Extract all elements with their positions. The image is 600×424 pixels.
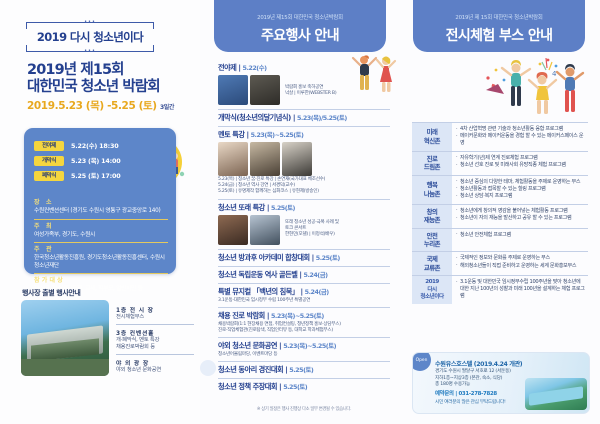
event-item-policy-debate[interactable]: 청소년 정책 주장대회 | 5.25(토): [218, 379, 390, 395]
zone-item: 청소년이 자의 재능을 발산하고 공유 할 수 있는 프로그램: [456, 215, 585, 222]
middle-header-title: 주요행사 안내: [214, 25, 386, 45]
schedule-label: 전야제: [34, 141, 64, 151]
venue-ground-shape: [21, 359, 109, 376]
schedule-row: 개막식 5.23 (목) 14:00: [34, 153, 166, 168]
schedule-label: 개막식: [34, 156, 64, 166]
schedule-value: 5.23 (목) 14:00: [71, 156, 120, 165]
zone-description: 청소년 안전체험 프로그램: [452, 229, 588, 252]
event-item-choir-contest[interactable]: 청소년 방과후 아카데미 합창대회 | 5.25(토): [218, 250, 390, 267]
event-date: 5.24(금): [305, 288, 329, 296]
zone-item: 청소년 중심의 다양한 테마, 체험활동을 주제로 운영하는 부스: [456, 179, 585, 186]
event-media-row: [218, 142, 390, 176]
zone-item: 청소년 안전체험 프로그램: [456, 232, 585, 239]
meta-value: 한국청소년활동진흥원, 경기도청소년활동진흥센터, 수원시청소년재단: [34, 255, 168, 270]
zone-item: 메이커문화와 메이커운동을 경험 할 수 있는 메이커스페이스 운영: [456, 133, 585, 147]
speaker-photo: [218, 215, 248, 245]
venue-photo: [21, 300, 109, 376]
hostel-title: 수원유스호스텔 (2019.4.24 개관): [435, 359, 522, 368]
performer-photo: [218, 75, 248, 105]
zone-row-future-innovation[interactable]: 미래 혁신존 4차 산업혁명 관련 기술과 청소년활동 융합 프로그램 메이커문…: [412, 123, 588, 152]
zone-item: 청소년활동과 접목할 수 있는 힐링 프로그램: [456, 186, 585, 193]
event-item-opening-ceremony[interactable]: 개막식(청소년의달기념식) | 5.23(목)/5.25(토): [218, 110, 390, 127]
meta-item-organizer: 주 관 한국청소년활동진흥원, 경기도청소년활동진흥센터, 수원시청소년재단: [34, 242, 168, 273]
zone-item: 청소년 상담·복지 프로그램: [456, 193, 585, 200]
meta-label: 참가대상: [34, 277, 168, 285]
schedule-row: 전야제 5.22(수) 18:30: [34, 138, 166, 153]
event-date: 5.23(목)~5.25(토): [271, 312, 324, 320]
event-meta-list: 장 소 수원컨벤션센터 (경기도 수원시 영통구 광교중앙로 140) 주 최 …: [34, 196, 168, 297]
zone-description: 청소년 중심의 다양한 테마, 체험활동을 주제로 운영하는 부스 청소년활동과…: [452, 176, 588, 204]
event-title-row: 전야제 | 5.22(수): [218, 63, 390, 73]
event-title-row: 청소년 방과후 아카데미 합창대회 | 5.25(토): [218, 253, 390, 263]
hostel-info-lines: 경기도 수원시 팔달구 서호로 12 (서둔동) 지하1층~지상3층 (본관, …: [435, 369, 539, 389]
zone-item-list: 청소년 안전체험 프로그램: [456, 232, 585, 239]
event-date-range: 2019.5.23 (목) -5.25 (토): [27, 100, 157, 112]
event-date: 5.25(토): [271, 204, 295, 212]
schedule-value: 5.25 (토) 17:00: [71, 171, 120, 180]
zone-description: 국제적인 정보와 문화를 주제로 운영하는 부스 해외청소년들이 직접 준비하고…: [452, 252, 588, 275]
title-line-1: 2019년 제15회: [27, 62, 197, 79]
zone-description: 자유학기(년)제 연계 진로체험 프로그램 청소년 선호 진로 및 미래사회 유…: [452, 152, 588, 175]
zone-row-international-exchange[interactable]: 국제 교류존 국제적인 정보와 문화를 주제로 운영하는 부스 해외청소년들이 …: [412, 252, 588, 276]
event-date: 5.23(목)~5.25(토): [283, 342, 336, 350]
venue-floor-desc: 야외 청소년 문화공연: [116, 367, 194, 374]
right-header-kicker: 2019년 제 15회 대한민국 청소년박람회: [413, 13, 585, 21]
right-header-title: 전시체험 부스 안내: [413, 25, 585, 45]
meta-item-venue: 장 소 수원컨벤션센터 (경기도 수원시 영통구 광교중앙로 140): [34, 196, 168, 219]
event-date: 5.23(목)~5.25(토): [251, 131, 304, 139]
zone-row-creative-talent[interactable]: 창의 재능존 청소년에게 창의적 영감을 불어넣는 체험활동 프로그램 청소년이…: [412, 205, 588, 229]
event-item-mentor-lecture[interactable]: 멘토 특강 | 5.23(목)~5.25(토) 5.23(목) | 청소년 꿈·…: [218, 127, 390, 200]
event-name: 청소년 또래 특강: [218, 203, 265, 212]
zone-item-list: 4차 산업혁명 관련 기술과 청소년활동 융합 프로그램 메이커문화와 메이커운…: [456, 126, 585, 147]
event-name: 개막식(청소년의달기념식): [218, 113, 291, 122]
middle-header-card: 2019년 제15회 대한민국 청소년박람회 주요행사 안내: [214, 0, 386, 52]
zone-name: 미래 혁신존: [412, 123, 452, 151]
brand-tag: ••• 2019 다시 청소년이다 •••: [26, 22, 154, 52]
event-subtext: 청소년어울림마당, 이벤트마당 등: [218, 352, 390, 358]
event-media-row: 또래 청소년 성공·극복 사례 및 토크 콘서트 한현민(모델) | 이정석(배…: [218, 215, 390, 245]
schedule-label: 폐막식: [34, 171, 64, 181]
booth-zone-table: 미래 혁신존 4차 산업혁명 관련 기술과 청소년활동 융합 프로그램 메이커문…: [412, 122, 588, 304]
event-item-peer-lecture[interactable]: 청소년 또래 특강 | 5.25(토) 또래 청소년 성공·극복 사례 및 토크…: [218, 200, 390, 250]
meta-label: 주 최: [34, 223, 168, 231]
event-name: 야외 청소년 문화공연: [218, 341, 277, 350]
title-line-2: 대한민국 청소년 박람회: [27, 79, 197, 96]
event-date: 5.24(금): [304, 271, 328, 279]
event-title-row: 개막식(청소년의달기념식) | 5.23(목)/5.25(토): [218, 113, 390, 123]
event-name: 청소년 정책 주장대회: [218, 382, 277, 391]
meta-item-host: 주 최 여성가족부, 경기도, 수원시: [34, 219, 168, 243]
zone-row-safety[interactable]: 안전 누리존 청소년 안전체험 프로그램: [412, 229, 588, 253]
middle-header-kicker: 2019년 제15회 대한민국 청소년박람회: [214, 13, 386, 21]
venue-floor-title: 야 외 광 장: [116, 358, 194, 367]
venue-floor-title: 3층 컨벤션홀: [116, 328, 194, 337]
zone-row-happiness-sharing[interactable]: 행복 나눔존 청소년 중심의 다양한 테마, 체험활동을 주제로 운영하는 부스…: [412, 176, 588, 205]
event-title-row: 채용 진로 박람회 | 5.23(목)~5.25(토): [218, 311, 390, 321]
program-event-list: 전야제 | 5.22(수) 박람회 홍보 축하공연 넉살 | 이루한(WEBST…: [218, 60, 390, 395]
event-name: 멘토 특강: [218, 130, 244, 139]
event-title-row: 멘토 특강 | 5.23(목)~5.25(토): [218, 130, 390, 140]
meta-label: 주 관: [34, 246, 168, 254]
event-title-row: 특별 뮤지컬 「백년의 침묵」 | 5.24(금): [218, 287, 390, 297]
meta-value: 수원컨벤션센터 (경기도 수원시 영통구 광교중앙로 140): [34, 208, 168, 216]
event-date: 5.22(수): [243, 64, 267, 72]
meta-value: 여성가족부, 경기도, 수원시: [34, 232, 168, 240]
panel-left-cover: ••• 2019 다시 청소년이다 ••• 2019년 제15회 대한민국 청소…: [0, 0, 200, 424]
decor-circle-tab: [200, 360, 216, 376]
venue-floor-item: 3층 컨벤션홀 개·폐막식, 멘토 특강 채용진로박람회 등: [116, 324, 194, 354]
zone-row-career-dream[interactable]: 진로 드림존 자유학기(년)제 연계 진로체험 프로그램 청소년 선호 진로 및…: [412, 152, 588, 176]
hostel-note: 시민 여러분의 많은 관심 부탁드립니다!: [435, 399, 506, 405]
event-name: 전야제: [218, 63, 236, 72]
event-title-row: 청소년 정책 주장대회 | 5.25(토): [218, 382, 390, 392]
zone-name: 2019 다시 청소년이다: [412, 276, 452, 304]
zone-item: 자유학기(년)제 연계 진로체험 프로그램: [456, 155, 585, 162]
zone-item: 해외청소년들이 직접 준비하고 운영하는 세계 문화홍보부스: [456, 263, 585, 270]
zone-item: 국제적인 정보와 문화를 주제로 운영하는 부스: [456, 255, 585, 262]
event-subtext: 5.23(목) | 청소년 꿈·진로 특강 | 손연재(국가대표 체조선수) 5…: [218, 177, 390, 196]
event-media-row: 박람회 홍보 축하공연 넉살 | 이루한(WEBSTER B): [218, 75, 390, 105]
event-name: 특별 뮤지컬 「백년의 침묵」: [218, 287, 299, 296]
hostel-capacity: 총 180명 수용가능: [435, 382, 539, 389]
schedule-row: 폐막식 5.25 (토) 17:00: [34, 168, 166, 183]
zone-description: 청소년에게 창의적 영감을 불어넣는 체험활동 프로그램 청소년이 자의 재능을…: [452, 205, 588, 228]
zone-row-brand-100th[interactable]: 2019 다시 청소년이다 3.1운동 및 대한민국 임시정부수립 100주년을…: [412, 276, 588, 304]
brand-dots-top: •••: [84, 20, 96, 25]
event-name: 청소년 동아리 경진대회: [218, 365, 283, 374]
venue-section-heading: 행사장 출별 행사안내: [22, 288, 80, 298]
performer-photo: [250, 75, 280, 105]
zone-name: 진로 드림존: [412, 152, 452, 175]
mentor-photo: [282, 142, 312, 176]
venue-floor-item: 야 외 광 장 야외 청소년 문화공연: [116, 354, 194, 377]
brochure-page: ••• 2019 다시 청소년이다 ••• 2019년 제15회 대한민국 청소…: [0, 0, 600, 424]
zone-item-list: 청소년 중심의 다양한 테마, 체험활동을 주제로 운영하는 부스 청소년활동과…: [456, 179, 585, 201]
brand-tag-label: 2019 다시 청소년이다: [26, 29, 154, 45]
open-badge: Open: [412, 352, 431, 371]
hostel-roof-shape: [529, 386, 583, 406]
event-title-row: 청소년 또래 특강 | 5.25(토): [218, 203, 390, 213]
event-date: 5.25(토): [316, 254, 340, 262]
zone-item: 4차 산업혁명 관련 기술과 청소년활동 융합 프로그램: [456, 126, 585, 133]
event-date-duration: 3일간: [160, 104, 174, 111]
event-title-row: 청소년 독립운동 역사 골든벨 | 5.24(금): [218, 270, 390, 280]
page-title: 2019년 제15회 대한민국 청소년 박람회: [27, 62, 197, 96]
right-header-card: 2019년 제 15회 대한민국 청소년박람회 전시체험 부스 안내: [413, 0, 585, 52]
hostel-photo: [525, 378, 587, 410]
zone-description: 4차 산업혁명 관련 기술과 청소년활동 융합 프로그램 메이커문화와 메이커운…: [452, 123, 588, 151]
meta-label: 장 소: [34, 199, 168, 207]
venue-floor-desc: 개·폐막식, 멘토 특강 채용진로박람회 등: [116, 337, 194, 351]
event-subtext: 또래 청소년 성공·극복 사례 및 토크 콘서트 한현민(모델) | 이정석(배…: [285, 215, 339, 239]
event-subtext: 3.1운동·대한민국 임시정부 수립 100주년 특별공연: [218, 298, 390, 304]
zone-name: 안전 누리존: [412, 229, 452, 252]
event-item-history-quiz[interactable]: 청소년 독립운동 역사 골든벨 | 5.24(금): [218, 267, 390, 284]
event-name: 청소년 방과후 아카데미 합창대회: [218, 253, 310, 262]
brand-dots-bottom: •••: [84, 49, 96, 54]
zone-item: 3.1운동 및 대한민국 임시정부수립 100주년을 맞아 청소년에 대한 지난…: [456, 279, 585, 300]
hostel-address: 경기도 수원시 팔달구 서호로 12 (서둔동): [435, 369, 539, 376]
zone-item: 청소년에게 창의적 영감을 불어넣는 체험활동 프로그램: [456, 208, 585, 215]
event-subtext: 박람회 홍보 축하공연 넉살 | 이루한(WEBSTER B): [285, 75, 336, 97]
zone-item-list: 국제적인 정보와 문화를 주제로 운영하는 부스 해외청소년들이 직접 준비하고…: [456, 255, 585, 269]
event-date: 5.23(목)/5.25(토): [297, 114, 347, 122]
event-item-eve-party[interactable]: 전야제 | 5.22(수) 박람회 홍보 축하공연 넉살 | 이루한(WEBST…: [218, 60, 390, 110]
event-name: 채용 진로 박람회: [218, 311, 265, 320]
event-subtext: 채용박람회(1:1 현장채용 면접, 취업컨설팅, 청년정책 홍보·상담부스) …: [218, 322, 390, 334]
event-title-row: 청소년 동아리 경진대회 | 5.25(토): [218, 365, 390, 375]
event-date-line: 2019.5.23 (목) -5.25 (토) 3일간: [27, 98, 202, 113]
zone-item: 청소년 선호 진로 및 미래사회 유망직종 체험 프로그램: [456, 162, 585, 169]
zone-name: 창의 재능존: [412, 205, 452, 228]
program-footnote: ※ 상기 일정은 행사 진행상 다소 일부 변경될 수 있습니다.: [218, 406, 390, 412]
event-date: 5.25(토): [289, 366, 313, 374]
hostel-tel-number: 031-278-7828: [458, 391, 496, 397]
zone-name: 행복 나눔존: [412, 176, 452, 204]
venue-floor-desc: 전시체험부스: [116, 314, 194, 321]
event-item-musical[interactable]: 특별 뮤지컬 「백년의 침묵」 | 5.24(금) 3.1운동·대한민국 임시정…: [218, 284, 390, 308]
schedule-value: 5.22(수) 18:30: [71, 141, 118, 150]
hostel-tel-label: 예약문의: [435, 391, 454, 397]
event-date: 5.25(토): [283, 383, 307, 391]
event-item-club-contest[interactable]: 청소년 동아리 경진대회 | 5.25(토): [218, 362, 390, 379]
event-item-job-fair[interactable]: 채용 진로 박람회 | 5.23(목)~5.25(토) 채용박람회(1:1 현장…: [218, 308, 390, 338]
event-title-row: 야외 청소년 문화공연 | 5.23(목)~5.25(토): [218, 341, 390, 351]
zone-item-list: 3.1운동 및 대한민국 임시정부수립 100주년을 맞아 청소년에 대한 지난…: [456, 279, 585, 300]
speaker-photo: [250, 215, 280, 245]
venue-floor-title: 1층 전 시 장: [116, 305, 194, 314]
event-name: 청소년 독립운동 역사 골든벨: [218, 270, 297, 279]
zone-item-list: 청소년에게 창의적 영감을 불어넣는 체험활동 프로그램 청소년이 자의 재능을…: [456, 208, 585, 222]
mentor-photo: [250, 142, 280, 176]
event-info-card: 전야제 5.22(수) 18:30 개막식 5.23 (목) 14:00 폐막식…: [24, 128, 176, 274]
venue-floor-item: 1층 전 시 장 전시체험부스: [116, 302, 194, 324]
venue-floor-list: 1층 전 시 장 전시체험부스 3층 컨벤션홀 개·폐막식, 멘토 특강 채용진…: [116, 302, 194, 377]
zone-description: 3.1운동 및 대한민국 임시정부수립 100주년을 맞아 청소년에 대한 지난…: [452, 276, 588, 304]
schedule-list: 전야제 5.22(수) 18:30 개막식 5.23 (목) 14:00 폐막식…: [34, 138, 166, 183]
mentor-photo: [218, 142, 248, 176]
zone-item-list: 자유학기(년)제 연계 진로체험 프로그램 청소년 선호 진로 및 미래사회 유…: [456, 155, 585, 169]
youth-hostel-card[interactable]: Open 수원유스호스텔 (2019.4.24 개관) 경기도 수원시 팔달구 …: [412, 352, 590, 414]
zone-name: 국제 교류존: [412, 252, 452, 275]
event-item-outdoor-performance[interactable]: 야외 청소년 문화공연 | 5.23(목)~5.25(토) 청소년어울림마당, …: [218, 338, 390, 362]
hostel-reservation-tel[interactable]: 예약문의 | 031-278-7828: [435, 389, 497, 397]
